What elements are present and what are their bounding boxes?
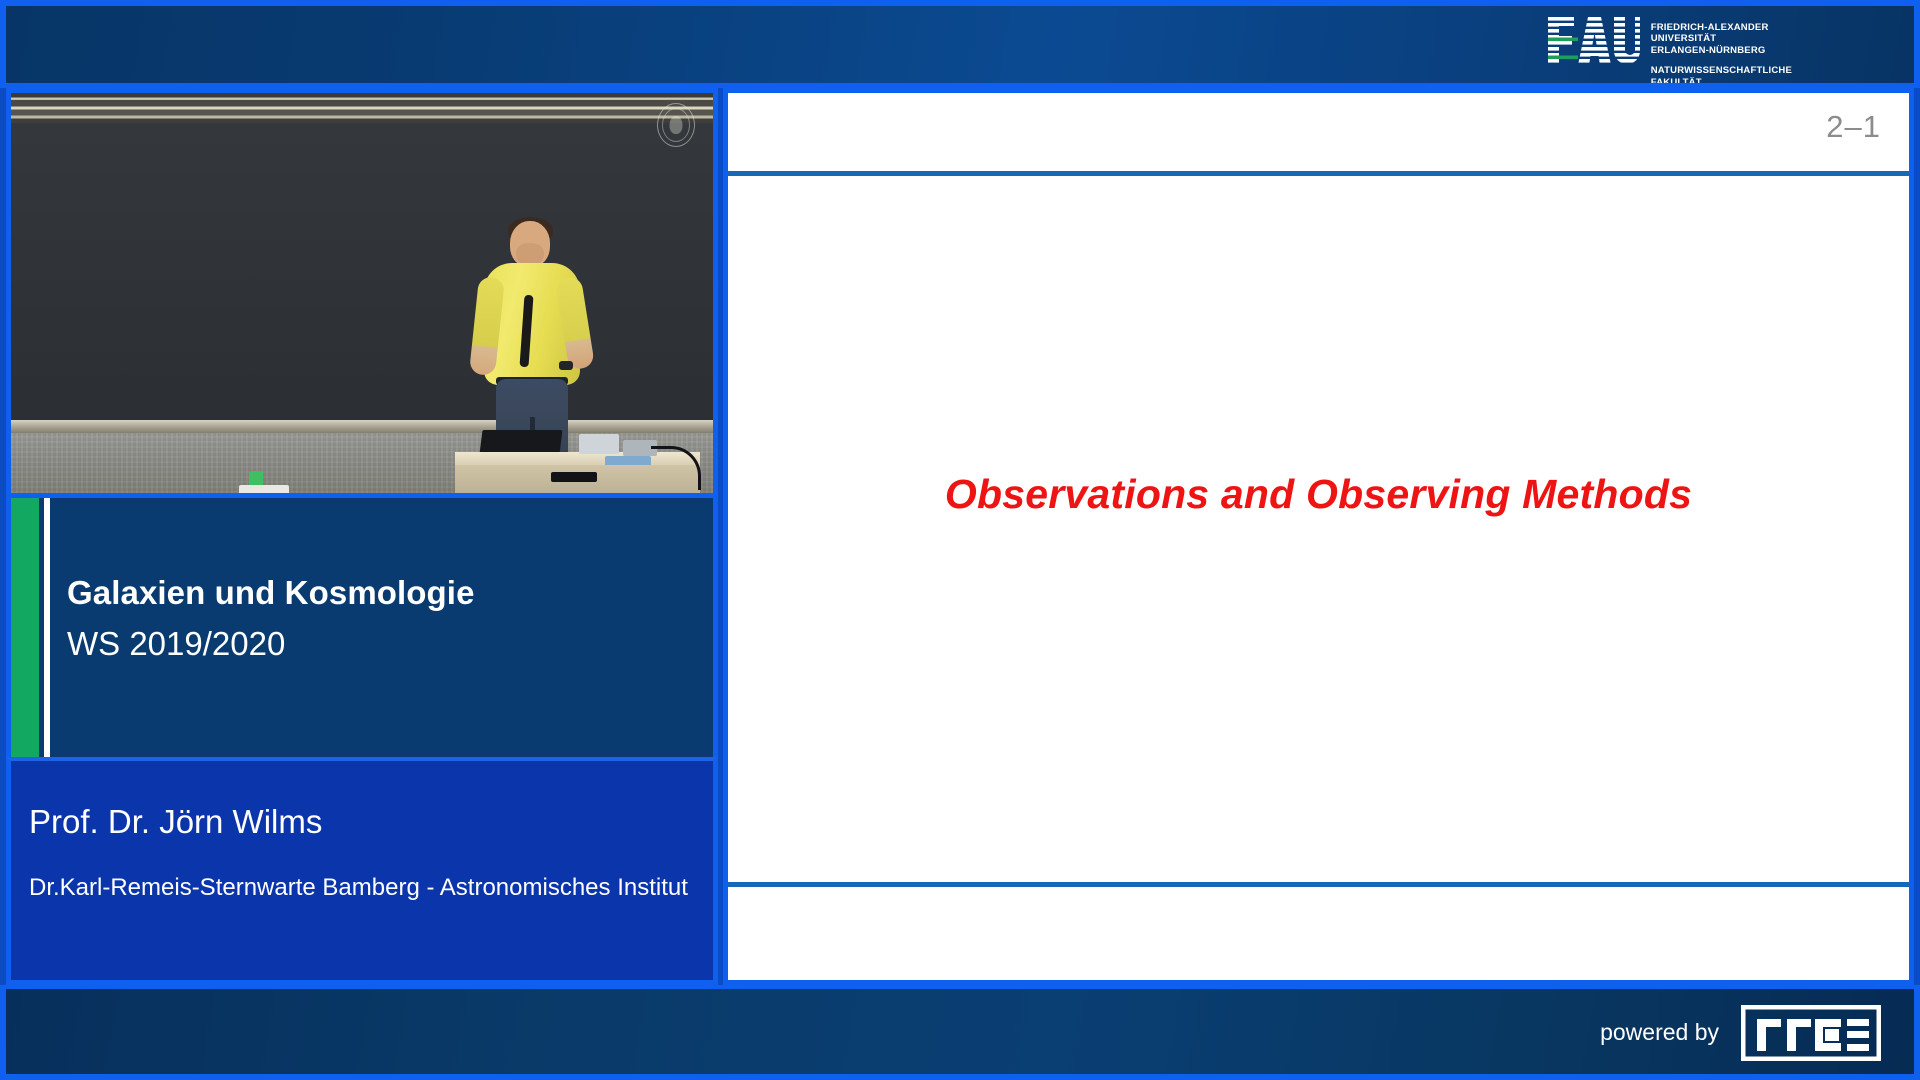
ceiling-strips [11, 93, 713, 123]
course-term: WS 2019/2020 [67, 622, 703, 666]
course-text-block: Galaxien und Kosmologie WS 2019/2020 [67, 498, 703, 757]
blackboard-rail [11, 420, 713, 433]
white-divider-line [44, 498, 50, 757]
presenter-affiliation: Dr.Karl-Remeis-Sternwarte Bamberg - Astr… [29, 871, 697, 904]
white-object-on-floor [239, 485, 289, 493]
slide-page-number: 2–1 [1826, 109, 1881, 145]
slide-top-rule [728, 171, 1909, 176]
presenter-info-panel: Prof. Dr. Jörn Wilms Dr.Karl-Remeis-Ster… [6, 757, 718, 985]
laptop-screen [480, 430, 563, 454]
fau-university-logo: FRIEDRICH-ALEXANDER UNIVERSITÄT ERLANGEN… [1548, 17, 1792, 88]
powered-by-label: powered by [1600, 1019, 1719, 1046]
fau-striped-wordmark-logo [1548, 17, 1640, 65]
slide-title: Observations and Observing Methods [728, 471, 1909, 518]
university-name-line-2: UNIVERSITÄT [1651, 33, 1792, 44]
faculty-name-line-2: FAKULTÄT [1651, 77, 1792, 88]
wristwatch [559, 361, 573, 370]
equipment-box-a [579, 434, 619, 454]
university-name-line-1: FRIEDRICH-ALEXANDER [1651, 22, 1792, 33]
course-info-panel: Galaxien und Kosmologie WS 2019/2020 [6, 498, 718, 757]
video-frame [11, 93, 713, 493]
lecturer-video-panel[interactable] [6, 88, 718, 498]
presenter-name: Prof. Dr. Jörn Wilms [29, 803, 322, 841]
phone-on-desk [551, 472, 597, 482]
fau-logo-text: FRIEDRICH-ALEXANDER UNIVERSITÄT ERLANGEN… [1651, 17, 1792, 88]
green-accent-bar [11, 498, 39, 757]
university-name-line-3: ERLANGEN-NÜRNBERG [1651, 45, 1792, 56]
powered-by-block: powered by [1600, 985, 1881, 1080]
course-title: Galaxien und Kosmologie [67, 573, 703, 613]
rrze-logo-icon [1741, 1005, 1881, 1061]
page-footer: powered by [0, 985, 1920, 1080]
faculty-name-line-1: NATURWISSENSCHAFTLICHE [1651, 65, 1792, 76]
lecturer-face-shadow [516, 243, 544, 265]
lecture-desk [455, 438, 700, 493]
slide-bottom-rule [728, 882, 1909, 887]
university-seal-watermark-icon [657, 103, 695, 147]
slide-panel[interactable]: 2–1 Observations and Observing Methods [723, 88, 1914, 985]
lecture-recording-viewer: FRIEDRICH-ALEXANDER UNIVERSITÄT ERLANGEN… [0, 0, 1920, 1080]
blackboard [11, 123, 713, 433]
page-header: FRIEDRICH-ALEXANDER UNIVERSITÄT ERLANGEN… [0, 0, 1920, 88]
